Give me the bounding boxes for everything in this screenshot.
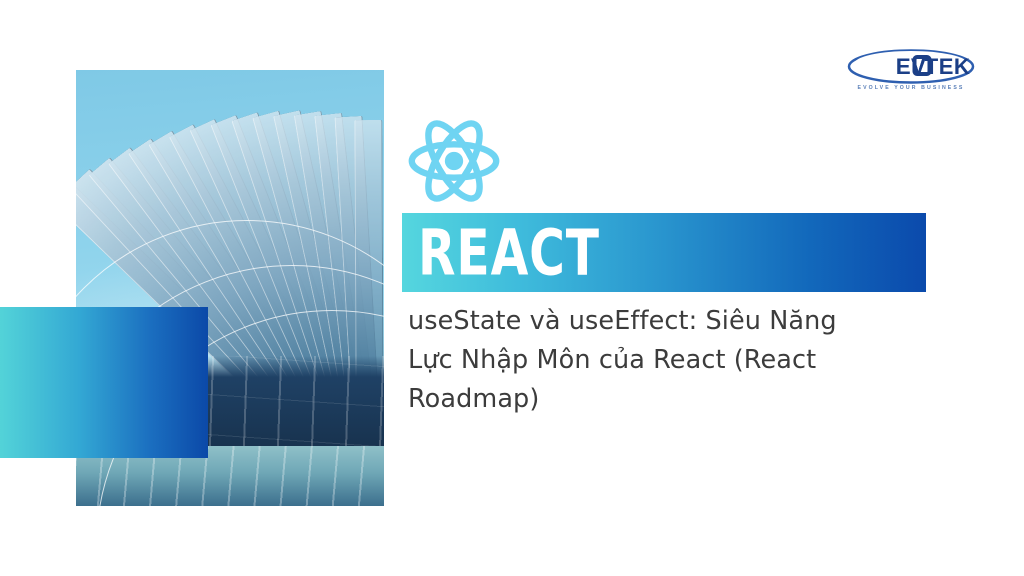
svg-text:TEK: TEK xyxy=(925,54,971,79)
evotek-logo[interactable]: EV EV TEK EVOLVE YOUR BUSINESS xyxy=(845,44,977,92)
react-atom-icon xyxy=(406,118,502,204)
title-banner: REACT xyxy=(402,213,926,292)
subtitle-text: useState và useEffect: Siêu Năng Lực Nhậ… xyxy=(408,302,848,419)
accent-gradient-rectangle xyxy=(0,307,208,458)
page-title: REACT xyxy=(418,221,600,284)
slide-canvas: REACT useState và useEffect: Siêu Năng L… xyxy=(0,0,1024,576)
evotek-tagline: EVOLVE YOUR BUSINESS xyxy=(845,85,977,91)
